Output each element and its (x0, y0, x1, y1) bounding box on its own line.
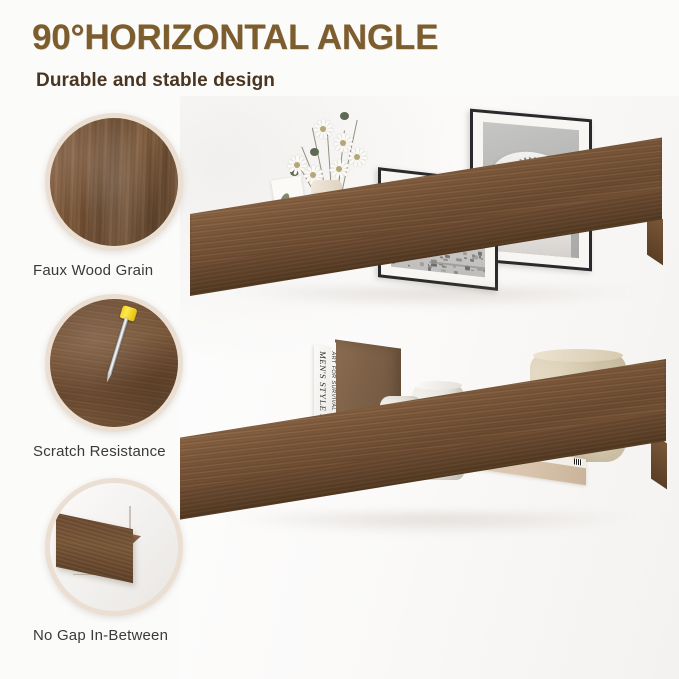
daisy-flower (328, 158, 350, 180)
shelf-shadow (218, 288, 652, 328)
feature-scratch-resistance: Scratch Resistance (33, 294, 223, 460)
shelf-shadow (207, 514, 656, 554)
lower-shelf-board (180, 438, 666, 530)
flower-bud (340, 112, 349, 120)
corner-scene (50, 483, 178, 611)
wood-texture (50, 118, 178, 246)
feature-image-circle (45, 294, 183, 432)
page-title: 90°HORIZONTAL ANGLE (32, 18, 438, 58)
feature-label: No Gap In-Between (33, 627, 223, 644)
product-photo-scene: ART FOR SURVIVAL MEN'S STYLE STORIES ART… (180, 96, 679, 679)
daisy-flower (312, 118, 334, 140)
feature-no-gap-in-between: No Gap In-Between (33, 478, 223, 644)
feature-image-circle (45, 113, 183, 251)
screwdriver-scratch-icon (50, 299, 178, 427)
page-subtitle: Durable and stable design (36, 70, 275, 92)
flower-bud (310, 148, 319, 156)
wood-grain-swatch-icon (50, 118, 178, 246)
feature-image-circle (45, 478, 183, 616)
shelf-board (56, 513, 133, 583)
upper-shelf-board (190, 214, 662, 306)
product-feature-graphic: 90°HORIZONTAL ANGLE Durable and stable d… (0, 0, 679, 679)
screwdriver-tip (105, 372, 112, 383)
feature-faux-wood-grain: Faux Wood Grain (33, 113, 223, 279)
feature-label: Scratch Resistance (33, 443, 223, 460)
no-gap-corner-icon (50, 483, 178, 611)
feature-label: Faux Wood Grain (33, 262, 223, 279)
